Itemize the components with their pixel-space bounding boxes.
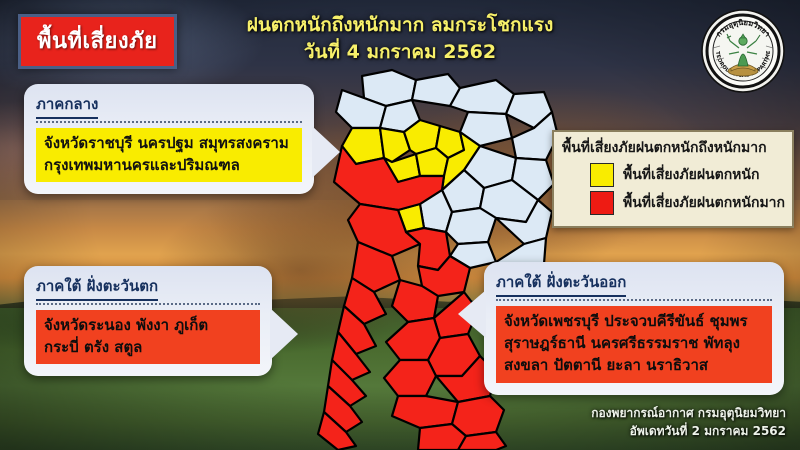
callout-central-header: ภาคกลาง xyxy=(36,92,98,119)
callout-south-east-coast: ภาคใต้ ฝั่งตะวันออก จังหวัดเพชรบุรี ประจ… xyxy=(484,262,784,395)
footer: กองพยากรณ์อากาศ กรมอุตุนิยมวิทยา อัพเดทว… xyxy=(591,404,786,440)
footer-source: กองพยากรณ์อากาศ กรมอุตุนิยมวิทยา xyxy=(591,404,786,422)
page-title-line-2: วันที่ 4 มกราคม 2562 xyxy=(200,39,600,66)
callout-south-east-header: ภาคใต้ ฝั่งตะวันออก xyxy=(496,270,626,297)
callout-south-west-band: จังหวัดระนอง พังงา ภูเก็ต กระบี่ ตรัง สต… xyxy=(36,310,260,364)
callout-south-west-coast: ภาคใต้ ฝั่งตะวันตก จังหวัดระนอง พังงา ภู… xyxy=(24,266,272,376)
legend-title: พื้นที่เสี่ยงภัยฝนตกหนักถึงหนักมาก xyxy=(562,137,784,159)
callout-central-band: จังหวัดราชบุรี นครปฐม สมุทรสงคราม กรุงเท… xyxy=(36,128,302,182)
meteorological-department-seal-icon: กรมอุตุนิยมวิทยา METEOROLOGICAL DEPARTME… xyxy=(700,8,786,94)
callout-south-west-divider xyxy=(36,302,260,305)
page-title-line-1: ฝนตกหนักถึงหนักมาก ลมกระโชกแรง xyxy=(200,12,600,39)
callout-south-east-band: จังหวัดเพชรบุรี ประจวบคีรีขันธ์ ชุมพร สุ… xyxy=(496,306,772,383)
callout-south-east-divider xyxy=(496,298,772,301)
risk-area-badge: พื้นที่เสี่ยงภัย xyxy=(18,14,177,69)
callout-south-east-line-1: จังหวัดเพชรบุรี ประจวบคีรีขันธ์ ชุมพร xyxy=(504,310,764,332)
callout-south-west-line-2: กระบี่ ตรัง สตูล xyxy=(44,336,252,358)
page-title: ฝนตกหนักถึงหนักมาก ลมกระโชกแรง วันที่ 4 … xyxy=(200,12,600,66)
callout-south-east-line-2: สุราษฎร์ธานี นครศรีธรรมราช พัทลุง xyxy=(504,332,764,354)
legend-swatch-red xyxy=(590,191,614,215)
legend-label-heavy-rain: พื้นที่เสี่ยงภัยฝนตกหนัก xyxy=(623,164,759,186)
callout-south-east-line-3: สงขลา ปัตตานี ยะลา นราธิวาส xyxy=(504,354,764,376)
callout-central-line-2: กรุงเทพมหานครและปริมณฑล xyxy=(44,154,294,176)
callout-south-west-header: ภาคใต้ ฝั่งตะวันตก xyxy=(36,274,158,301)
legend-label-very-heavy-rain: พื้นที่เสี่ยงภัยฝนตกหนักมาก xyxy=(623,192,785,214)
legend-swatch-yellow xyxy=(590,163,614,187)
callout-central-divider xyxy=(36,120,302,123)
callout-south-east-pointer xyxy=(458,290,486,338)
callout-central-line-1: จังหวัดราชบุรี นครปฐม สมุทรสงคราม xyxy=(44,132,294,154)
risk-area-badge-label: พื้นที่เสี่ยงภัย xyxy=(37,23,158,58)
footer-update-date: อัพเดทวันที่ 2 มกราคม 2562 xyxy=(591,422,786,440)
legend: พื้นที่เสี่ยงภัยฝนตกหนักถึงหนักมาก พื้นท… xyxy=(552,130,794,228)
legend-item-heavy-rain: พื้นที่เสี่ยงภัยฝนตกหนัก xyxy=(590,163,784,187)
legend-item-very-heavy-rain: พื้นที่เสี่ยงภัยฝนตกหนักมาก xyxy=(590,191,784,215)
callout-central-region: ภาคกลาง จังหวัดราชบุรี นครปฐม สมุทรสงครา… xyxy=(24,84,314,194)
callout-south-west-line-1: จังหวัดระนอง พังงา ภูเก็ต xyxy=(44,314,252,336)
callout-central-pointer xyxy=(312,126,340,178)
callout-south-west-pointer xyxy=(270,308,298,360)
weather-warning-poster: พื้นที่เสี่ยงภัย ฝนตกหนักถึงหนักมาก ลมกร… xyxy=(0,0,800,450)
